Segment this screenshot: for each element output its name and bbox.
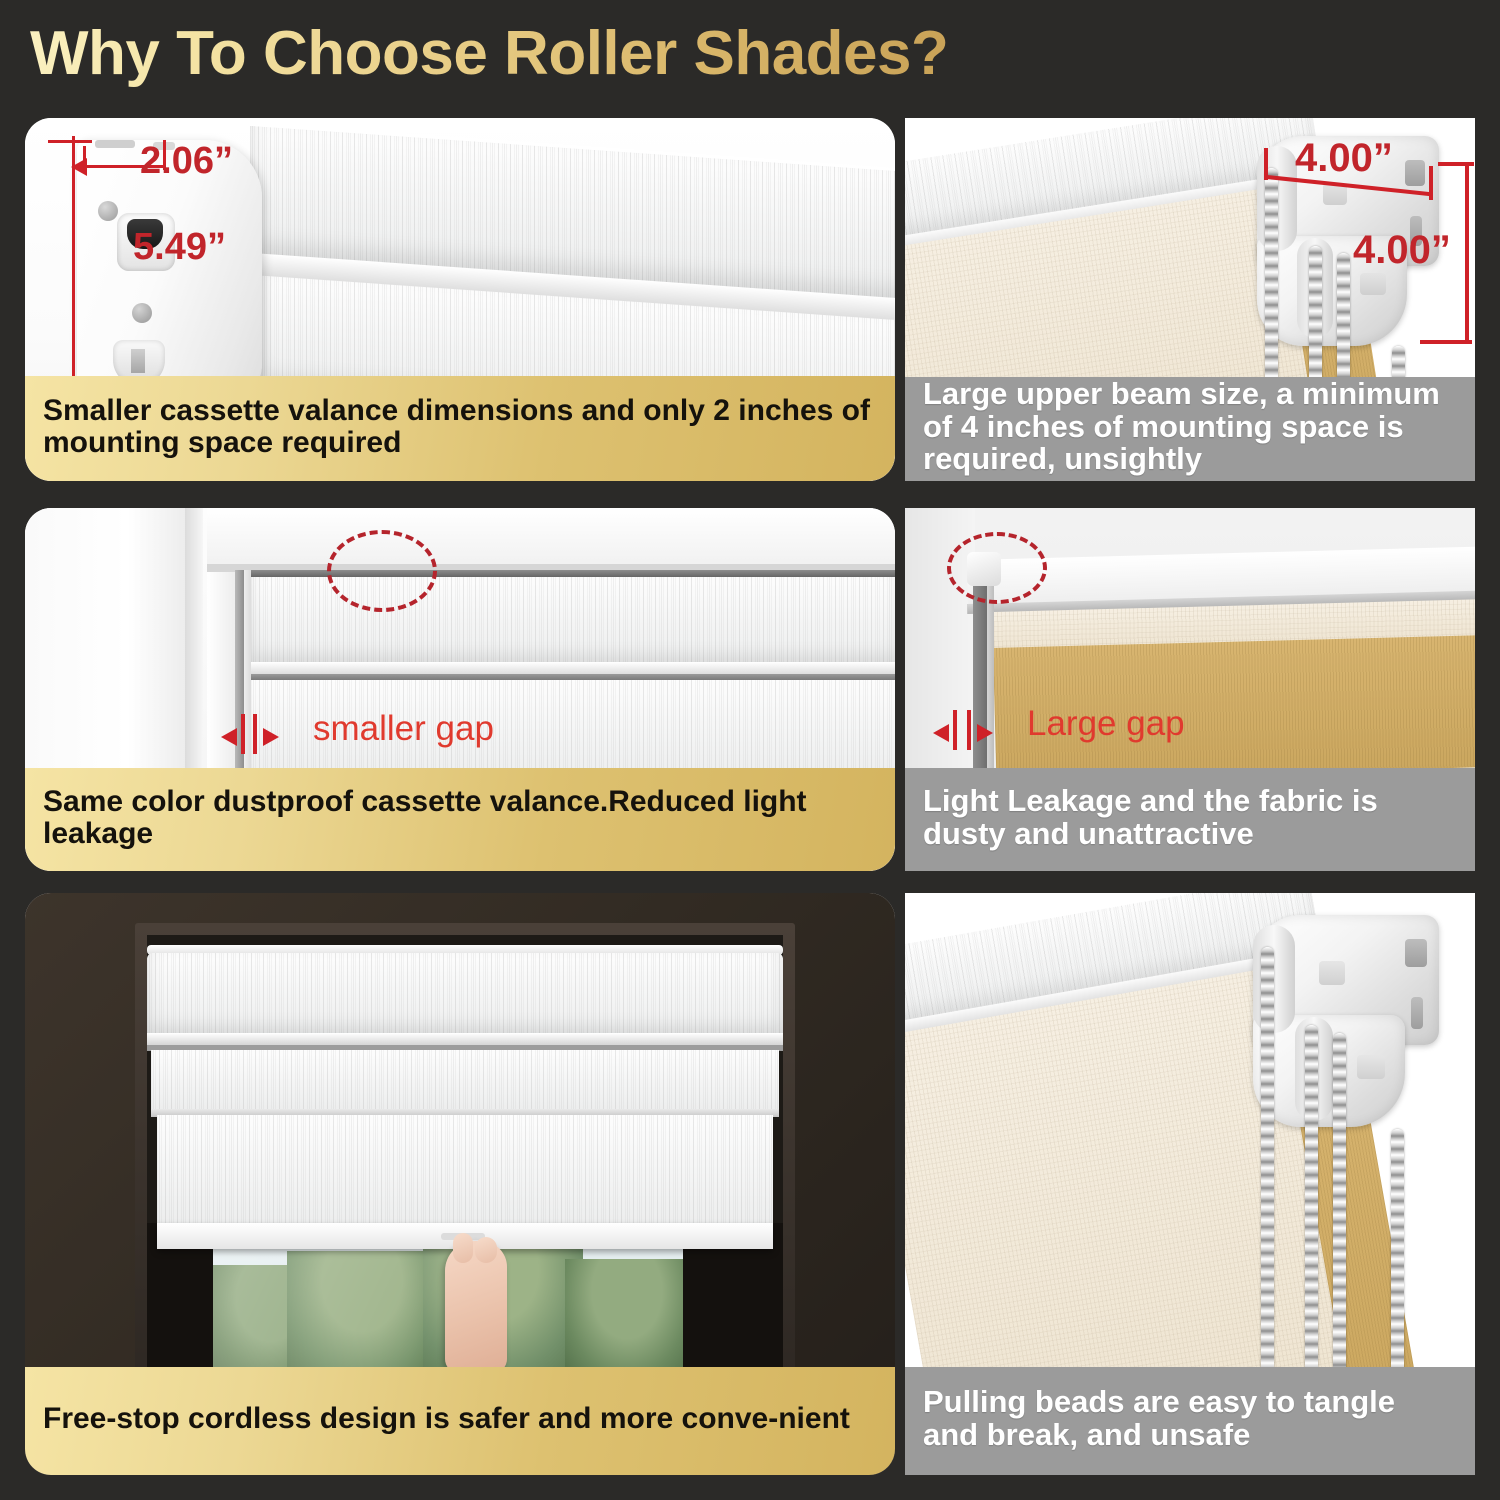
gap-arrow-right <box>263 728 279 746</box>
caption-middle-left: Same color dustproof cassette valance.Re… <box>25 768 895 871</box>
caption-top-left: Smaller cassette valance dimensions and … <box>25 376 895 481</box>
caption-bottom-right: Pulling beads are easy to tangle and bre… <box>905 1367 1475 1475</box>
height-dimension-label: 5.49” <box>133 226 226 269</box>
hand-illustration <box>445 1241 507 1373</box>
width-dimension-label: 2.06” <box>140 140 233 183</box>
page-title: Why To Choose Roller Shades? <box>30 18 948 89</box>
gap-arrow-left <box>933 724 949 742</box>
panel-bottom-left: Free-stop cordless design is safer and m… <box>25 893 895 1475</box>
infographic-root: Why To Choose Roller Shades? <box>0 0 1500 1500</box>
gap-arrow-left <box>221 728 237 746</box>
panel-top-right: 4.00” 4.00” Large upper beam size, a min… <box>905 118 1475 481</box>
caption-middle-right: Light Leakage and the fabric is dusty an… <box>905 768 1475 871</box>
panel-middle-left: smaller gap Same color dustproof cassett… <box>25 508 895 871</box>
gap-label: Large gap <box>1027 704 1185 744</box>
height-dimension-line <box>1465 163 1469 343</box>
width-dimension-label: 4.00” <box>1295 136 1393 181</box>
highlight-circle <box>327 530 437 612</box>
caption-top-right: Large upper beam size, a minimum of 4 in… <box>905 377 1475 481</box>
caption-bottom-left: Free-stop cordless design is safer and m… <box>25 1367 895 1475</box>
panel-bottom-right: Pulling beads are easy to tangle and bre… <box>905 893 1475 1475</box>
panel-top-left: 5.49” 2.06” Smaller cassette valance dim… <box>25 118 895 481</box>
gap-label: smaller gap <box>313 709 494 749</box>
height-dimension-label: 4.00” <box>1353 228 1451 273</box>
gap-arrow-right <box>977 724 993 742</box>
panel-middle-right: Large gap Light Leakage and the fabric i… <box>905 508 1475 871</box>
highlight-circle <box>947 532 1047 604</box>
